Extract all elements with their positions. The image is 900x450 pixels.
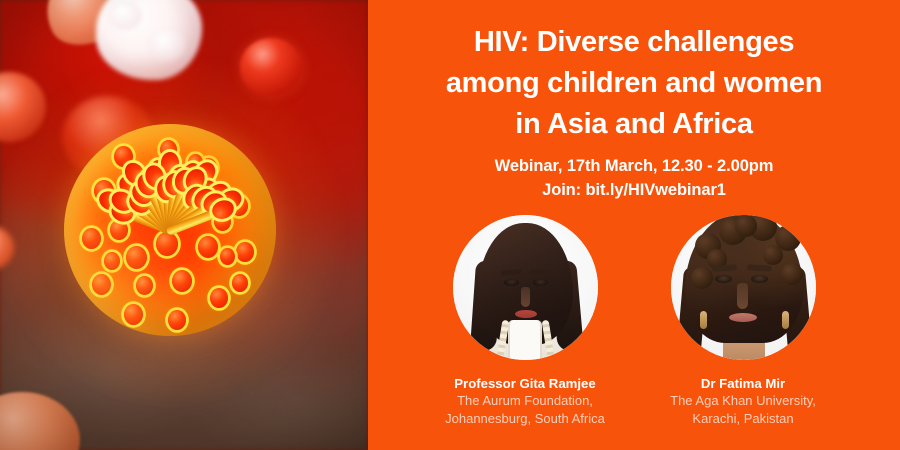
- speaker-caption: Professor Gita Ramjee The Aurum Foundati…: [438, 375, 613, 428]
- speaker-name: Professor Gita Ramjee: [438, 375, 613, 392]
- hiv-virus-illustration: [0, 0, 368, 450]
- speaker-affiliation-line-1: The Aurum Foundation,: [438, 392, 613, 410]
- vignette-overlay: [0, 0, 368, 450]
- portrait-earring-left: [700, 311, 707, 329]
- speaker-affiliation-line-2: Johannesburg, South Africa: [438, 410, 613, 428]
- speaker-card: Dr Fatima Mir The Aga Khan University, K…: [671, 215, 816, 428]
- speaker-card: Professor Gita Ramjee The Aurum Foundati…: [453, 215, 598, 428]
- portrait-lips: [729, 313, 757, 322]
- portrait-eye-left: [715, 275, 732, 283]
- title-line-1: HIV: Diverse challenges: [368, 22, 900, 63]
- hair-curl: [735, 215, 757, 237]
- webinar-promo-poster: HIV: Diverse challenges among children a…: [0, 0, 900, 450]
- hair-curl: [763, 245, 783, 265]
- event-details: Webinar, 17th March, 12.30 - 2.00pm Join…: [368, 154, 900, 202]
- portrait-eye-left: [504, 279, 519, 286]
- event-datetime: Webinar, 17th March, 12.30 - 2.00pm: [368, 154, 900, 178]
- speaker-affiliation-line-1: The Aga Khan University,: [656, 392, 831, 410]
- hair-curl: [691, 267, 713, 289]
- hair-curl: [781, 263, 803, 285]
- portrait-nose: [737, 283, 748, 309]
- portrait-earring-right: [782, 311, 789, 329]
- portrait-eye-right: [751, 275, 768, 283]
- join-link[interactable]: Join: bit.ly/HIVwebinar1: [368, 178, 900, 202]
- speaker-caption: Dr Fatima Mir The Aga Khan University, K…: [656, 375, 831, 428]
- content-panel: HIV: Diverse challenges among children a…: [368, 0, 900, 450]
- portrait-eye-right: [533, 279, 548, 286]
- title-line-3: in Asia and Africa: [368, 104, 900, 145]
- portrait-collar: [508, 320, 542, 360]
- title-line-2: among children and women: [368, 63, 900, 104]
- speaker-affiliation-line-2: Karachi, Pakistan: [656, 410, 831, 428]
- portrait-lips: [515, 310, 537, 318]
- speaker-list: Professor Gita Ramjee The Aurum Foundati…: [368, 215, 900, 428]
- portrait-gita-ramjee: [453, 215, 598, 360]
- portrait-nose: [521, 287, 530, 307]
- page-title: HIV: Diverse challenges among children a…: [368, 22, 900, 145]
- portrait-fatima-mir: [671, 215, 816, 360]
- speaker-name: Dr Fatima Mir: [656, 375, 831, 392]
